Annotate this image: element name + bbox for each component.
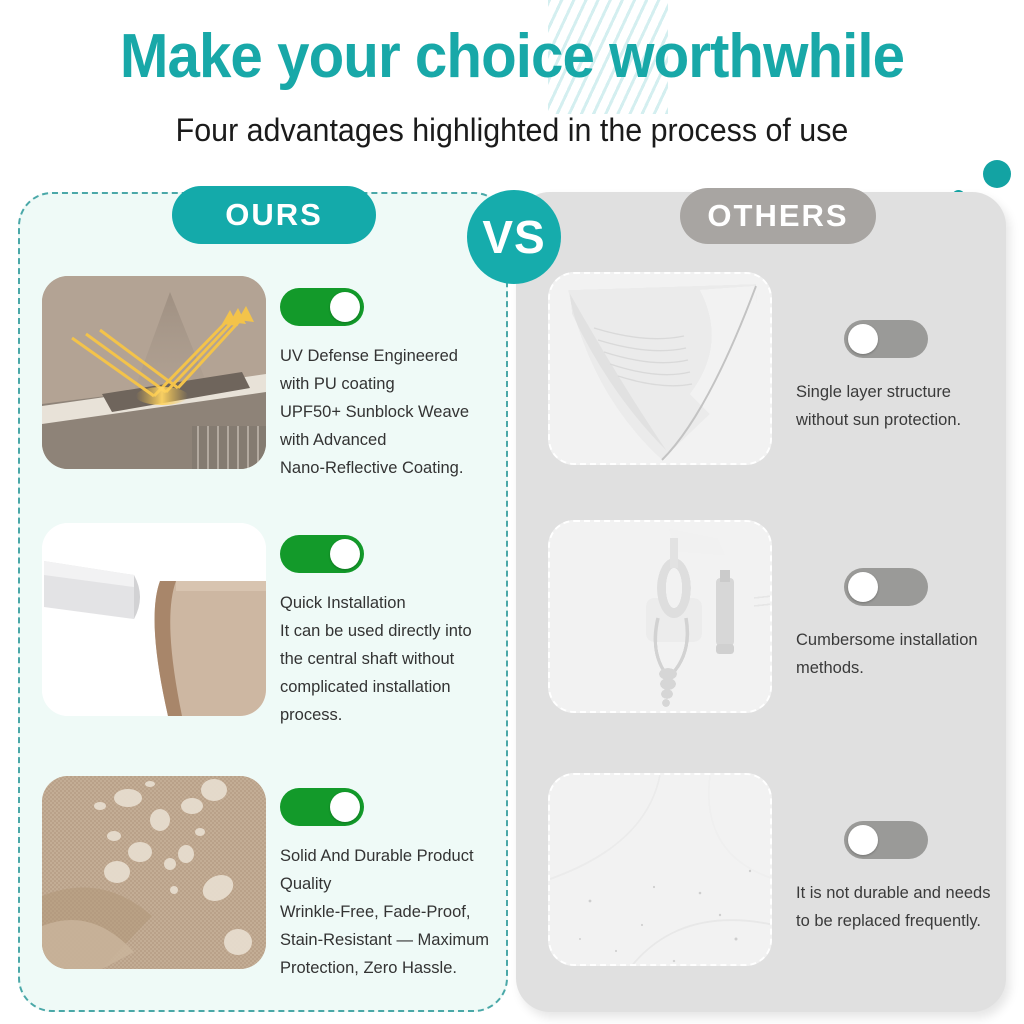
- others-toggle-2[interactable]: [844, 568, 928, 606]
- ours-item-2-text: Quick Installation It can be used direct…: [280, 589, 502, 729]
- ours-badge: OURS: [172, 186, 376, 244]
- worn-wrinkled-fabric-image: [548, 773, 772, 966]
- others-badge: OTHERS: [680, 188, 876, 244]
- water-repellent-fabric-droplets-image: [42, 776, 266, 969]
- others-item-3-content: It is not durable and needs to be replac…: [796, 773, 1014, 935]
- decorative-dot-large: [983, 160, 1011, 188]
- others-row-1: Single layer structure without sun prote…: [548, 272, 1014, 465]
- toggle-knob: [330, 792, 360, 822]
- uv-reflective-fabric-cross-section-image: [42, 276, 266, 469]
- ours-toggle-2[interactable]: [280, 535, 364, 573]
- toggle-knob: [330, 292, 360, 322]
- ours-toggle-1[interactable]: [280, 288, 364, 326]
- others-item-2-content: Cumbersome installation methods.: [796, 520, 1014, 682]
- others-item-3-text: It is not durable and needs to be replac…: [796, 879, 1014, 935]
- others-toggle-1[interactable]: [844, 320, 928, 358]
- others-toggle-3[interactable]: [844, 821, 928, 859]
- ours-item-1-content: UV Defense Engineered with PU coating UP…: [280, 276, 502, 482]
- ours-item-1-text: UV Defense Engineered with PU coating UP…: [280, 342, 502, 482]
- vs-badge: VS: [467, 190, 561, 284]
- toggle-knob: [848, 825, 878, 855]
- ours-item-2-content: Quick Installation It can be used direct…: [280, 523, 502, 729]
- toggle-knob: [330, 539, 360, 569]
- page-title: Make your choice worthwhile: [31, 22, 994, 92]
- single-layer-fabric-corner-image: [548, 272, 772, 465]
- others-row-3: It is not durable and needs to be replac…: [548, 773, 1014, 966]
- complex-installation-hardware-image: [548, 520, 772, 713]
- others-item-1-content: Single layer structure without sun prote…: [796, 272, 1014, 434]
- toggle-knob: [848, 572, 878, 602]
- infographic-root: Make your choice worthwhile Four advanta…: [0, 0, 1024, 1024]
- ours-row-3: Solid And Durable Product Quality Wrinkl…: [42, 776, 502, 982]
- ours-item-3-content: Solid And Durable Product Quality Wrinkl…: [280, 776, 502, 982]
- others-item-2-text: Cumbersome installation methods.: [796, 626, 1014, 682]
- ours-row-2: Quick Installation It can be used direct…: [42, 523, 502, 729]
- ours-row-1: UV Defense Engineered with PU coating UP…: [42, 276, 502, 482]
- page-subtitle: Four advantages highlighted in the proce…: [26, 108, 999, 152]
- others-item-1-text: Single layer structure without sun prote…: [796, 378, 1014, 434]
- toggle-knob: [848, 324, 878, 354]
- ours-item-3-text: Solid And Durable Product Quality Wrinkl…: [280, 842, 502, 982]
- others-row-2: Cumbersome installation methods.: [548, 520, 1014, 713]
- pole-and-fabric-sleeve-image: [42, 523, 266, 716]
- ours-toggle-3[interactable]: [280, 788, 364, 826]
